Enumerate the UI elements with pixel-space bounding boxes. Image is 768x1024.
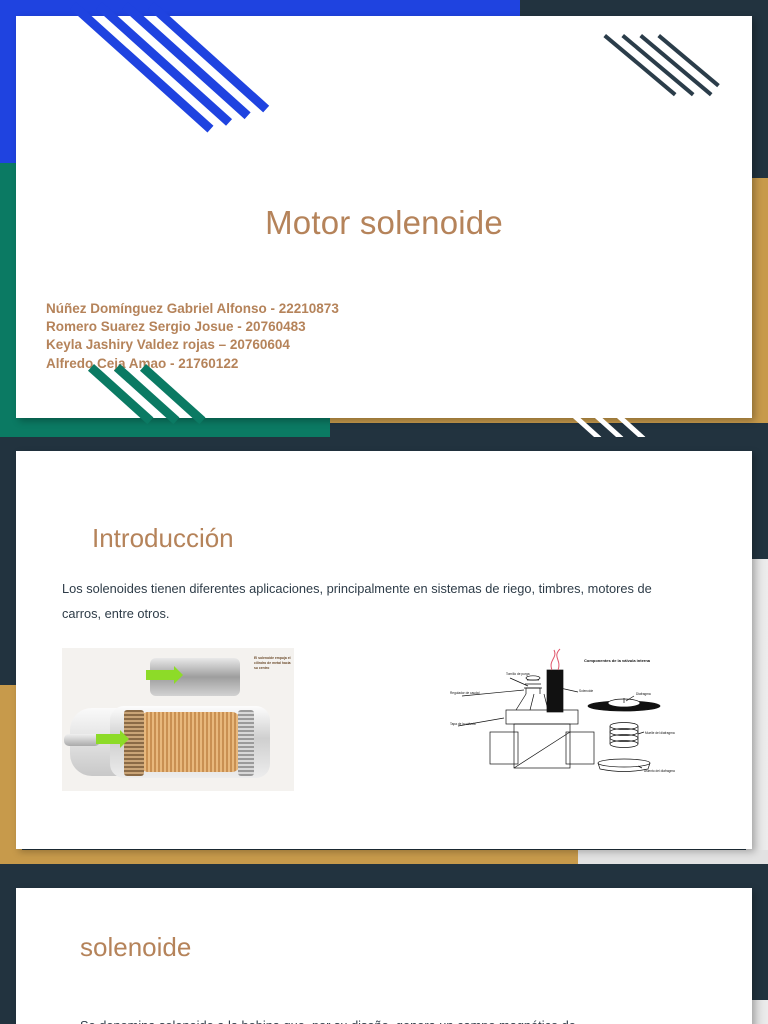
motor-caption-text: El solenoide empuja el cilindro de metal… — [254, 656, 294, 671]
green-arrow-icon — [96, 734, 120, 744]
author-line: Núñez Domínguez Gabriel Alfonso - 222108… — [46, 300, 646, 318]
starter-motor-image: El solenoide empuja el cilindro de metal… — [62, 648, 294, 791]
valve-label-tapa: Tapa de la válvula — [450, 722, 476, 726]
author-line: Keyla Jashiry Valdez rojas – 20760604 — [46, 336, 646, 354]
slide-3-canvas: solenoide Se denomina solenoide a la bob… — [16, 888, 752, 1024]
valve-label-regulador: Regulador de caudal — [450, 691, 480, 695]
bottom-teal-band — [0, 415, 330, 437]
green-arrow-icon — [146, 670, 174, 680]
slide-1-title: Motor solenoide Núñez Domínguez Gabriel … — [0, 0, 768, 437]
valve-label-diafragma: Diafragma — [636, 692, 651, 696]
valve-label-asiento: Asiento del diafragma — [644, 769, 675, 773]
section-heading: Introducción — [92, 523, 234, 554]
right-gray-band — [750, 1000, 768, 1024]
valve-label-muelle: Muelle del diafragma — [645, 731, 675, 735]
motor-armature-windings — [140, 712, 240, 772]
author-list: Núñez Domínguez Gabriel Alfonso - 222108… — [46, 300, 646, 373]
valve-label-tornillo: Tornillo de purga — [506, 672, 530, 676]
author-line: Alfredo Ceja Amao - 21760122 — [46, 355, 646, 373]
section-heading: solenoide — [80, 932, 191, 963]
page-title: Motor solenoide — [16, 204, 752, 242]
motor-drive-shaft — [64, 734, 100, 746]
slide-1-canvas: Motor solenoide Núñez Domínguez Gabriel … — [16, 16, 752, 418]
motor-gear-right — [238, 710, 254, 776]
section-body-text: Se denomina solenoide a la bobina que, p… — [80, 1013, 720, 1024]
solenoid-valve-image: Componentes de la válvula interna Regula… — [448, 648, 696, 791]
slide-2-canvas: Introducción Los solenoides tienen difer… — [16, 451, 752, 849]
author-line: Romero Suarez Sergio Josue - 20760483 — [46, 318, 646, 336]
valve-label-solenoide: Solenoide — [579, 689, 593, 693]
solenoid-valve-svg: Componentes de la válvula interna Regula… — [448, 648, 696, 791]
navy-diagonal-stripes-decoration — [606, 34, 768, 104]
bottom-navy-band — [0, 864, 768, 874]
valve-title-label: Componentes de la válvula interna — [584, 658, 651, 663]
section-body-text: Los solenoides tienen diferentes aplicac… — [62, 576, 682, 626]
slide-3-solenoide: solenoide Se denomina solenoide a la bob… — [0, 874, 768, 1024]
slide-2-introduccion: Introducción Los solenoides tienen difer… — [0, 437, 768, 874]
presentation-deck: Motor solenoide Núñez Domínguez Gabriel … — [0, 0, 768, 1024]
blue-diagonal-stripes-decoration — [76, 2, 336, 112]
